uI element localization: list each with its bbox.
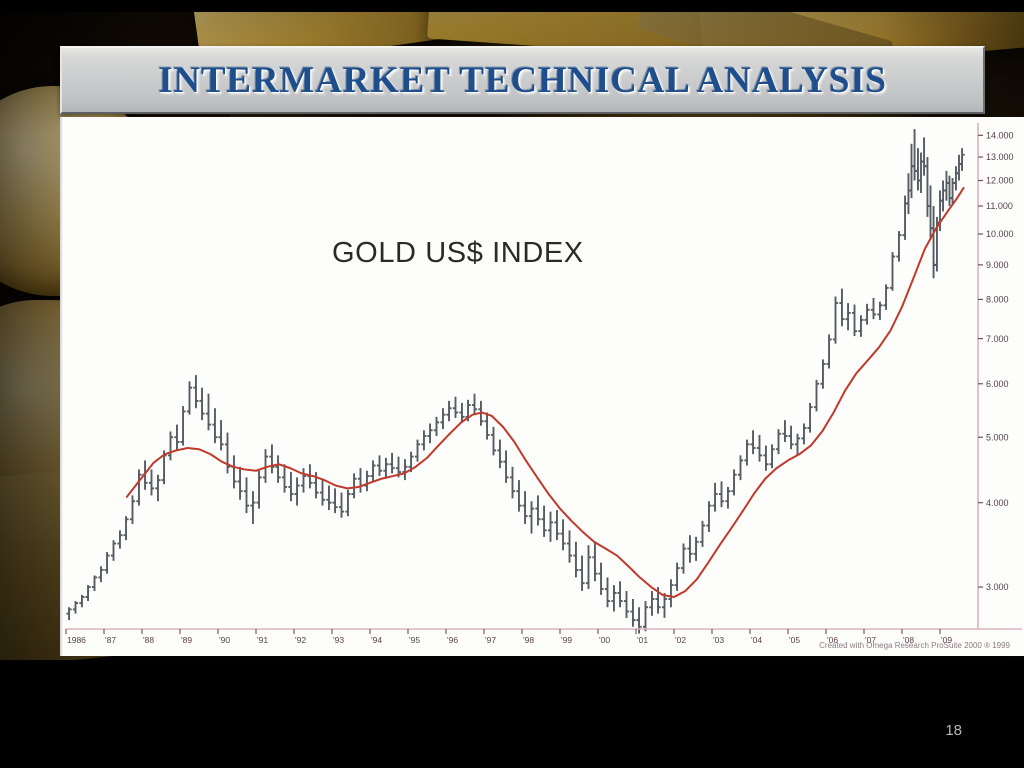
ohlc-bar: [579, 556, 584, 591]
ohlc-bar: [522, 491, 527, 524]
ohlc-bar: [909, 144, 914, 198]
ohlc-bar: [288, 472, 293, 501]
ohlc-bar: [237, 467, 242, 500]
ohlc-bar: [712, 483, 717, 512]
ohlc-bar: [750, 430, 755, 454]
ohlc-bar: [377, 455, 382, 476]
ohlc-bar: [693, 537, 698, 561]
ohlc-bar: [548, 512, 553, 542]
ohlc-bar: [358, 468, 363, 492]
x-axis-tick-label: '02: [675, 635, 686, 645]
ohlc-bar: [497, 440, 502, 469]
ohlc-bar: [928, 185, 933, 239]
ohlc-bar: [389, 453, 394, 474]
x-axis-tick-label: '95: [409, 635, 420, 645]
ohlc-bar: [92, 576, 97, 591]
y-axis-tick-label: 7.000: [986, 334, 1009, 344]
ohlc-bar: [560, 519, 565, 550]
y-axis-tick-label: 10.000: [986, 229, 1014, 239]
y-axis-tick-label: 3.000: [986, 582, 1009, 592]
ohlc-bar: [839, 289, 844, 327]
ohlc-bar: [858, 315, 863, 337]
ohlc-bar: [947, 176, 952, 206]
x-axis-tick-label: '96: [447, 635, 458, 645]
ohlc-bar: [332, 488, 337, 513]
ohlc-bar: [529, 501, 534, 533]
ohlc-bars-group: [66, 129, 964, 633]
ohlc-bar: [326, 486, 331, 511]
ohlc-bar: [123, 516, 128, 540]
x-axis-tick-label: '94: [371, 635, 382, 645]
ohlc-bar: [85, 585, 90, 601]
ohlc-bar: [66, 607, 71, 620]
ohlc-bar: [484, 413, 489, 440]
ohlc-bar: [320, 480, 325, 506]
ohlc-bar: [738, 455, 743, 480]
ohlc-bar: [415, 440, 420, 462]
ohlc-bar: [776, 429, 781, 454]
x-axis-tick-label: '01: [637, 635, 648, 645]
ohlc-bar: [864, 304, 869, 325]
ohlc-bar: [187, 381, 192, 414]
ohlc-bar: [877, 302, 882, 320]
ohlc-bar: [554, 510, 559, 540]
x-axis-tick-label: '88: [143, 635, 154, 645]
ohlc-bar: [104, 552, 109, 574]
ohlc-bar: [199, 388, 204, 420]
ohlc-bar: [231, 455, 236, 488]
ohlc-bar: [681, 544, 686, 574]
ohlc-bar: [643, 601, 648, 631]
ohlc-bar: [852, 305, 857, 336]
ohlc-bar: [446, 401, 451, 421]
ohlc-bar: [953, 166, 958, 190]
ohlc-bar: [921, 137, 926, 175]
y-axis-tick-label: 5.000: [986, 432, 1009, 442]
ohlc-bar: [598, 563, 603, 595]
slide-page-number: 18: [945, 722, 962, 739]
ohlc-bar: [592, 542, 597, 581]
ohlc-bar: [149, 469, 154, 495]
ohlc-bar: [814, 380, 819, 412]
ohlc-bar: [915, 148, 920, 190]
ohlc-bar: [402, 459, 407, 480]
ohlc-bar: [744, 440, 749, 466]
ohlc-bar: [918, 153, 923, 193]
ohlc-bar: [282, 464, 287, 492]
x-axis-tick-label: '89: [181, 635, 192, 645]
axis-group: [66, 123, 1022, 634]
x-axis-tick-label: '91: [257, 635, 268, 645]
y-axis-labels-group: 3.0004.0005.0006.0007.0008.0009.00010.00…: [986, 131, 1014, 593]
ohlc-bar: [301, 468, 306, 492]
ohlc-bar: [731, 469, 736, 495]
x-axis-tick-label: '00: [599, 635, 610, 645]
ohlc-bar: [956, 155, 961, 181]
ohlc-bar: [845, 303, 850, 330]
x-axis-tick-label: '97: [485, 635, 496, 645]
ohlc-bar: [871, 298, 876, 319]
y-axis-tick-label: 8.000: [986, 295, 1009, 305]
ohlc-bar: [535, 495, 540, 525]
x-axis-tick-label: '93: [333, 635, 344, 645]
ohlc-bar: [212, 408, 217, 443]
ohlc-bar: [339, 493, 344, 518]
ohlc-bar: [605, 577, 610, 607]
y-axis-tick-label: 6.000: [986, 379, 1009, 389]
ohlc-bar: [795, 434, 800, 456]
ohlc-bar: [206, 394, 211, 431]
ohlc-bar: [940, 181, 945, 212]
presentation-slide: INTERMARKET TECHNICAL ANALYSIS 3.0004.00…: [0, 0, 1024, 768]
chart-image-panel: 3.0004.0005.0006.0007.0008.0009.00010.00…: [60, 117, 1024, 656]
ohlc-bar: [351, 473, 356, 498]
y-axis-tick-label: 14.000: [986, 131, 1014, 141]
ohlc-bar: [573, 542, 578, 578]
ohlc-bar: [130, 495, 135, 524]
ohlc-bar: [896, 231, 901, 262]
x-axis-tick-label: '92: [295, 635, 306, 645]
ohlc-bar: [833, 296, 838, 343]
ohlc-bar: [890, 252, 895, 291]
top-letterbox-strip: [0, 0, 1024, 12]
ohlc-bar: [769, 444, 774, 468]
ohlc-bar: [801, 423, 806, 444]
ohlc-bar: [434, 417, 439, 436]
ohlc-bar: [630, 599, 635, 627]
ohlc-bar: [73, 601, 78, 614]
ohlc-bar: [275, 455, 280, 482]
ohlc-bar: [959, 148, 964, 171]
x-axis-tick-label: '90: [219, 635, 230, 645]
ohlc-bar: [757, 435, 762, 462]
ohlc-bar: [567, 530, 572, 562]
ohlc-bar: [193, 375, 198, 408]
ohlc-bar: [168, 431, 173, 460]
ohlc-bar: [79, 595, 84, 607]
ohlc-bar: [931, 206, 936, 278]
ohlc-bar: [111, 540, 116, 561]
gold-index-price-chart: 3.0004.0005.0006.0007.0008.0009.00010.00…: [60, 117, 1024, 656]
ohlc-bar: [383, 458, 388, 479]
ohlc-bar: [820, 359, 825, 388]
ohlc-bar: [117, 530, 122, 548]
ohlc-bar: [269, 444, 274, 473]
x-axis-tick-label: '98: [523, 635, 534, 645]
ohlc-bar: [586, 545, 591, 589]
ohlc-bar: [950, 178, 955, 203]
y-axis-tick-label: 11.000: [986, 201, 1013, 211]
x-axis-tick-label: '05: [789, 635, 800, 645]
ohlc-bar: [250, 491, 255, 524]
ohlc-bar: [902, 196, 907, 240]
ohlc-bar: [617, 581, 622, 607]
x-axis-tick-label: '87: [105, 635, 116, 645]
ohlc-bar: [136, 469, 141, 505]
ohlc-bar: [244, 477, 249, 513]
ohlc-bar: [944, 171, 949, 201]
ohlc-bar: [155, 475, 160, 501]
ohlc-bar: [925, 157, 930, 217]
ohlc-bar: [218, 420, 223, 450]
ohlc-bar: [174, 425, 179, 451]
y-axis-tick-label: 12.000: [986, 176, 1014, 186]
ohlc-bar: [510, 467, 515, 498]
slide-title-banner: INTERMARKET TECHNICAL ANALYSIS: [60, 46, 985, 114]
ohlc-bar: [345, 490, 350, 516]
ohlc-bar: [674, 563, 679, 591]
ohlc-bar: [906, 173, 911, 214]
ohlc-bar: [763, 446, 768, 471]
ohlc-bar: [370, 460, 375, 481]
x-axis-tick-label: '03: [713, 635, 724, 645]
ohlc-bar: [788, 426, 793, 449]
ohlc-bar: [516, 480, 521, 512]
ohlc-bar: [503, 450, 508, 482]
ohlc-bar: [421, 430, 426, 450]
ohlc-bar: [541, 506, 546, 537]
ohlc-bar: [719, 481, 724, 507]
slide-title: INTERMARKET TECHNICAL ANALYSIS: [158, 59, 887, 102]
ohlc-bar: [706, 501, 711, 532]
ohlc-bar: [668, 579, 673, 607]
ohlc-bar: [649, 591, 654, 616]
ohlc-bar: [725, 487, 730, 509]
y-axis-tick-label: 4.000: [986, 498, 1009, 508]
ohlc-bar: [491, 427, 496, 456]
chart-title: GOLD US$ INDEX: [332, 237, 584, 270]
ohlc-bar: [912, 129, 917, 180]
x-axis-tick-label: '99: [561, 635, 572, 645]
ohlc-bar: [826, 334, 831, 368]
ohlc-bar: [440, 408, 445, 429]
ohlc-bar: [687, 535, 692, 562]
ohlc-bar: [782, 420, 787, 442]
ohlc-bar: [225, 433, 230, 474]
y-axis-tick-label: 13.000: [986, 152, 1014, 162]
x-axis-tick-label: '04: [751, 635, 762, 645]
ohlc-bar: [427, 423, 432, 443]
ohlc-bar: [700, 521, 705, 547]
ohlc-bar: [453, 397, 458, 418]
ohlc-bar: [662, 593, 667, 618]
ohlc-bar: [364, 471, 369, 491]
ohlc-bar: [180, 406, 185, 445]
ohlc-bar: [256, 471, 261, 509]
ohlc-bar: [807, 403, 812, 433]
x-axis-tick-label: 1986: [67, 635, 86, 645]
ohlc-bar: [294, 477, 299, 505]
ohlc-bar: [98, 566, 103, 582]
ohlc-bar: [472, 394, 477, 414]
ohlc-bar: [624, 591, 629, 618]
chart-credit-text: Created with Omega Research ProSuite 200…: [819, 641, 1010, 650]
ohlc-bar: [611, 585, 616, 611]
y-axis-tick-label: 9.000: [986, 260, 1009, 270]
ohlc-bar: [883, 284, 888, 309]
